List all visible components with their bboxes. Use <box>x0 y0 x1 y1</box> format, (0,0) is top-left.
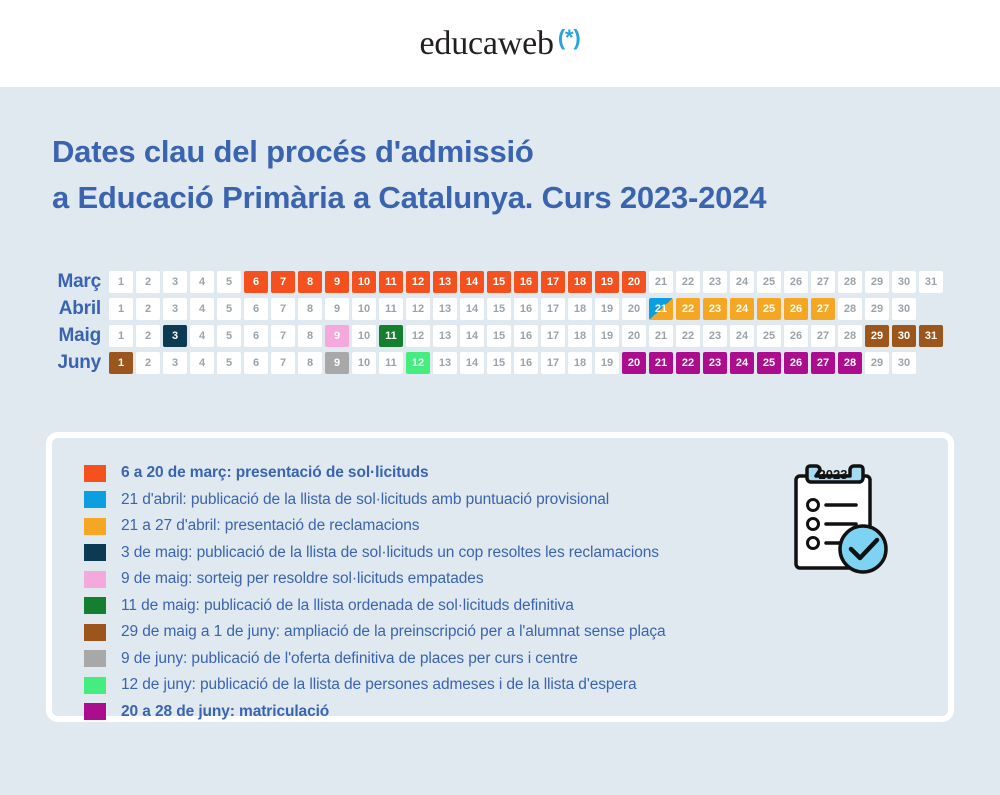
day-cell-abril-22-highlighted[interactable]: 22 <box>676 298 700 320</box>
day-cell-març-2[interactable]: 2 <box>136 271 160 293</box>
day-cell-abril-13[interactable]: 13 <box>433 298 457 320</box>
day-cell-juny-2[interactable]: 2 <box>136 352 160 374</box>
day-cell-abril-26-highlighted[interactable]: 26 <box>784 298 808 320</box>
day-cell-març-5[interactable]: 5 <box>217 271 241 293</box>
day-cell-abril-30[interactable]: 30 <box>892 298 916 320</box>
page-title-line-1: Dates clau del procés d'admissió <box>52 129 1000 175</box>
day-cell-juny-25-highlighted[interactable]: 25 <box>757 352 781 374</box>
day-cell-abril-10[interactable]: 10 <box>352 298 376 320</box>
day-cell-maig-23[interactable]: 23 <box>703 325 727 347</box>
day-cell-abril-5[interactable]: 5 <box>217 298 241 320</box>
legend-color-swatch <box>84 703 106 720</box>
day-cell-maig-15[interactable]: 15 <box>487 325 511 347</box>
day-cell-empty <box>919 352 943 374</box>
day-cell-març-29[interactable]: 29 <box>865 271 889 293</box>
day-cell-març-3[interactable]: 3 <box>163 271 187 293</box>
day-cell-juny-22-highlighted[interactable]: 22 <box>676 352 700 374</box>
calendar-grid: Març123456789101112131415161718192021222… <box>0 269 1000 377</box>
day-cell-març-15-highlighted[interactable]: 15 <box>487 271 511 293</box>
day-cell-maig-20[interactable]: 20 <box>622 325 646 347</box>
day-cell-maig-16[interactable]: 16 <box>514 325 538 347</box>
day-cell-juny-24-highlighted[interactable]: 24 <box>730 352 754 374</box>
day-cell-juny-16[interactable]: 16 <box>514 352 538 374</box>
day-cell-juny-30[interactable]: 30 <box>892 352 916 374</box>
legend-color-swatch <box>84 624 106 641</box>
legend-item: 11 de maig: publicació de la llista orde… <box>84 593 948 620</box>
day-cell-juny-7[interactable]: 7 <box>271 352 295 374</box>
day-cell-juny-28-highlighted[interactable]: 28 <box>838 352 862 374</box>
day-cell-març-20-highlighted[interactable]: 20 <box>622 271 646 293</box>
day-cell-abril-12[interactable]: 12 <box>406 298 430 320</box>
day-cell-maig-8[interactable]: 8 <box>298 325 322 347</box>
legend-item-label: 9 de maig: sorteig per resoldre sol·lici… <box>121 570 483 588</box>
day-cell-març-24[interactable]: 24 <box>730 271 754 293</box>
legend-panel: 6 a 20 de març: presentació de sol·licit… <box>46 432 954 722</box>
legend-item-label: 21 d'abril: publicació de la llista de s… <box>121 491 609 509</box>
day-cell-març-14-highlighted[interactable]: 14 <box>460 271 484 293</box>
day-cell-juny-12-highlighted[interactable]: 12 <box>406 352 430 374</box>
day-cell-maig-28[interactable]: 28 <box>838 325 862 347</box>
day-cell-maig-14[interactable]: 14 <box>460 325 484 347</box>
day-cell-març-19-highlighted[interactable]: 19 <box>595 271 619 293</box>
legend-color-swatch <box>84 465 106 482</box>
educaweb-logo: educaweb (*) <box>420 27 581 61</box>
day-cell-abril-16[interactable]: 16 <box>514 298 538 320</box>
day-cell-març-30[interactable]: 30 <box>892 271 916 293</box>
day-cell-març-23[interactable]: 23 <box>703 271 727 293</box>
day-cell-març-25[interactable]: 25 <box>757 271 781 293</box>
day-cell-maig-17[interactable]: 17 <box>541 325 565 347</box>
day-cells: 1234567891011121314151617181920212223242… <box>109 352 943 374</box>
day-cell-març-27[interactable]: 27 <box>811 271 835 293</box>
day-cell-juny-27-highlighted[interactable]: 27 <box>811 352 835 374</box>
day-cells: 1234567891011121314151617181920212223242… <box>109 271 943 293</box>
day-cell-abril-27-highlighted[interactable]: 27 <box>811 298 835 320</box>
day-cell-març-10-highlighted[interactable]: 10 <box>352 271 376 293</box>
day-cell-juny-19[interactable]: 19 <box>595 352 619 374</box>
day-cell-maig-5[interactable]: 5 <box>217 325 241 347</box>
day-cell-juny-18[interactable]: 18 <box>568 352 592 374</box>
day-cell-maig-3-highlighted[interactable]: 3 <box>163 325 187 347</box>
legend-color-swatch <box>84 650 106 667</box>
day-cell-març-31[interactable]: 31 <box>919 271 943 293</box>
day-cell-maig-25[interactable]: 25 <box>757 325 781 347</box>
day-cell-març-4[interactable]: 4 <box>190 271 214 293</box>
day-cells: 1234567891011121314151617181920212223242… <box>109 325 943 347</box>
day-cell-maig-12[interactable]: 12 <box>406 325 430 347</box>
month-label-juny: Juny <box>35 352 109 374</box>
day-cell-juny-14[interactable]: 14 <box>460 352 484 374</box>
day-cell-juny-21-highlighted[interactable]: 21 <box>649 352 673 374</box>
day-cell-abril-21-split[interactable]: 21 <box>649 298 673 320</box>
calendar-row-maig: Maig123456789101112131415161718192021222… <box>35 323 1000 350</box>
day-cell-abril-24-highlighted[interactable]: 24 <box>730 298 754 320</box>
day-cell-març-11-highlighted[interactable]: 11 <box>379 271 403 293</box>
day-cell-abril-2[interactable]: 2 <box>136 298 160 320</box>
day-cell-juny-13[interactable]: 13 <box>433 352 457 374</box>
legend-color-swatch <box>84 491 106 508</box>
day-cell-abril-4[interactable]: 4 <box>190 298 214 320</box>
day-cell-abril-29[interactable]: 29 <box>865 298 889 320</box>
legend-item: 29 de maig a 1 de juny: ampliació de la … <box>84 619 948 646</box>
logo-asterisk-icon: (*) <box>558 27 581 49</box>
day-cell-abril-7[interactable]: 7 <box>271 298 295 320</box>
day-cell-maig-29-highlighted[interactable]: 29 <box>865 325 889 347</box>
day-cell-abril-19[interactable]: 19 <box>595 298 619 320</box>
legend-item-label: 3 de maig: publicació de la llista de so… <box>121 544 659 562</box>
day-cell-maig-26[interactable]: 26 <box>784 325 808 347</box>
day-cell-abril-14[interactable]: 14 <box>460 298 484 320</box>
legend-item: 12 de juny: publicació de la llista de p… <box>84 672 948 699</box>
day-cell-abril-23-highlighted[interactable]: 23 <box>703 298 727 320</box>
day-cell-març-21[interactable]: 21 <box>649 271 673 293</box>
day-cell-juny-5[interactable]: 5 <box>217 352 241 374</box>
legend-color-swatch <box>84 597 106 614</box>
day-cell-juny-9-highlighted[interactable]: 9 <box>325 352 349 374</box>
day-cell-juny-20-highlighted[interactable]: 20 <box>622 352 646 374</box>
day-cell-març-28[interactable]: 28 <box>838 271 862 293</box>
legend-item-label: 12 de juny: publicació de la llista de p… <box>121 676 636 694</box>
day-cell-abril-15[interactable]: 15 <box>487 298 511 320</box>
month-label-març: Març <box>35 271 109 293</box>
day-cell-març-26[interactable]: 26 <box>784 271 808 293</box>
day-cell-empty <box>919 298 943 320</box>
day-cell-març-17-highlighted[interactable]: 17 <box>541 271 565 293</box>
day-cell-abril-18[interactable]: 18 <box>568 298 592 320</box>
day-cell-març-8-highlighted[interactable]: 8 <box>298 271 322 293</box>
day-cell-maig-18[interactable]: 18 <box>568 325 592 347</box>
month-label-abril: Abril <box>35 298 109 320</box>
day-cell-abril-28[interactable]: 28 <box>838 298 862 320</box>
day-cell-juny-29[interactable]: 29 <box>865 352 889 374</box>
legend-item-label: 6 a 20 de març: presentació de sol·licit… <box>121 464 429 482</box>
day-cell-maig-7[interactable]: 7 <box>271 325 295 347</box>
legend-item-label: 29 de maig a 1 de juny: ampliació de la … <box>121 623 666 641</box>
legend-color-swatch <box>84 518 106 535</box>
day-cell-abril-25-highlighted[interactable]: 25 <box>757 298 781 320</box>
day-cell-juny-11[interactable]: 11 <box>379 352 403 374</box>
day-cell-maig-22[interactable]: 22 <box>676 325 700 347</box>
day-cell-maig-13[interactable]: 13 <box>433 325 457 347</box>
legend-item: 9 de juny: publicació de l'oferta defini… <box>84 646 948 673</box>
day-cell-abril-1[interactable]: 1 <box>109 298 133 320</box>
day-cell-març-18-highlighted[interactable]: 18 <box>568 271 592 293</box>
day-cell-maig-21[interactable]: 21 <box>649 325 673 347</box>
day-cell-març-7-highlighted[interactable]: 7 <box>271 271 295 293</box>
day-cell-juny-6[interactable]: 6 <box>244 352 268 374</box>
day-cell-juny-15[interactable]: 15 <box>487 352 511 374</box>
legend-color-swatch <box>84 677 106 694</box>
calendar-row-juny: Juny123456789101112131415161718192021222… <box>35 350 1000 377</box>
calendar-row-abril: Abril12345678910111213141516171819202122… <box>35 296 1000 323</box>
day-cell-maig-24[interactable]: 24 <box>730 325 754 347</box>
day-cell-abril-3[interactable]: 3 <box>163 298 187 320</box>
day-cell-abril-9[interactable]: 9 <box>325 298 349 320</box>
day-cell-abril-6[interactable]: 6 <box>244 298 268 320</box>
month-label-maig: Maig <box>35 325 109 347</box>
day-cell-març-16-highlighted[interactable]: 16 <box>514 271 538 293</box>
day-cell-maig-27[interactable]: 27 <box>811 325 835 347</box>
day-cell-abril-8[interactable]: 8 <box>298 298 322 320</box>
day-cell-maig-31-highlighted[interactable]: 31 <box>919 325 943 347</box>
day-cell-maig-11-highlighted[interactable]: 11 <box>379 325 403 347</box>
page-title: Dates clau del procés d'admissió a Educa… <box>0 87 1000 221</box>
day-cell-juny-8[interactable]: 8 <box>298 352 322 374</box>
day-cell-març-13-highlighted[interactable]: 13 <box>433 271 457 293</box>
legend-color-swatch <box>84 571 106 588</box>
day-cell-març-1[interactable]: 1 <box>109 271 133 293</box>
legend-color-swatch <box>84 544 106 561</box>
day-cell-maig-6[interactable]: 6 <box>244 325 268 347</box>
day-cell-juny-10[interactable]: 10 <box>352 352 376 374</box>
day-cell-juny-1-highlighted[interactable]: 1 <box>109 352 133 374</box>
day-cell-juny-17[interactable]: 17 <box>541 352 565 374</box>
day-cell-maig-30-highlighted[interactable]: 30 <box>892 325 916 347</box>
day-cell-maig-4[interactable]: 4 <box>190 325 214 347</box>
day-cell-juny-4[interactable]: 4 <box>190 352 214 374</box>
day-cell-març-22[interactable]: 22 <box>676 271 700 293</box>
day-cell-març-12-highlighted[interactable]: 12 <box>406 271 430 293</box>
clipboard-checklist-icon: 2023 <box>786 460 896 580</box>
day-cell-juny-26-highlighted[interactable]: 26 <box>784 352 808 374</box>
day-cell-abril-11[interactable]: 11 <box>379 298 403 320</box>
day-cell-juny-23-highlighted[interactable]: 23 <box>703 352 727 374</box>
calendar-row-març: Març123456789101112131415161718192021222… <box>35 269 1000 296</box>
day-cell-maig-9-highlighted[interactable]: 9 <box>325 325 349 347</box>
day-cell-maig-19[interactable]: 19 <box>595 325 619 347</box>
legend-item-label: 21 a 27 d'abril: presentació de reclamac… <box>121 517 419 535</box>
day-cell-març-9-highlighted[interactable]: 9 <box>325 271 349 293</box>
header-band: educaweb (*) <box>0 0 1000 87</box>
legend-item-label: 11 de maig: publicació de la llista orde… <box>121 597 574 615</box>
logo-wordmark: educaweb <box>420 27 554 61</box>
day-cell-maig-1[interactable]: 1 <box>109 325 133 347</box>
day-cell-abril-20[interactable]: 20 <box>622 298 646 320</box>
legend-item-label: 9 de juny: publicació de l'oferta defini… <box>121 650 578 668</box>
day-cell-juny-3[interactable]: 3 <box>163 352 187 374</box>
day-cell-maig-10[interactable]: 10 <box>352 325 376 347</box>
day-cell-març-6-highlighted[interactable]: 6 <box>244 271 268 293</box>
day-cell-maig-2[interactable]: 2 <box>136 325 160 347</box>
day-cells: 1234567891011121314151617181920212223242… <box>109 298 943 320</box>
legend-item-label: 20 a 28 de juny: matriculació <box>121 703 329 721</box>
page-title-line-2: a Educació Primària a Catalunya. Curs 20… <box>52 175 1000 221</box>
clipboard-year-label: 2023 <box>819 467 848 482</box>
legend-item: 20 a 28 de juny: matriculació <box>84 699 948 726</box>
day-cell-abril-17[interactable]: 17 <box>541 298 565 320</box>
day-number: 21 <box>655 303 667 315</box>
